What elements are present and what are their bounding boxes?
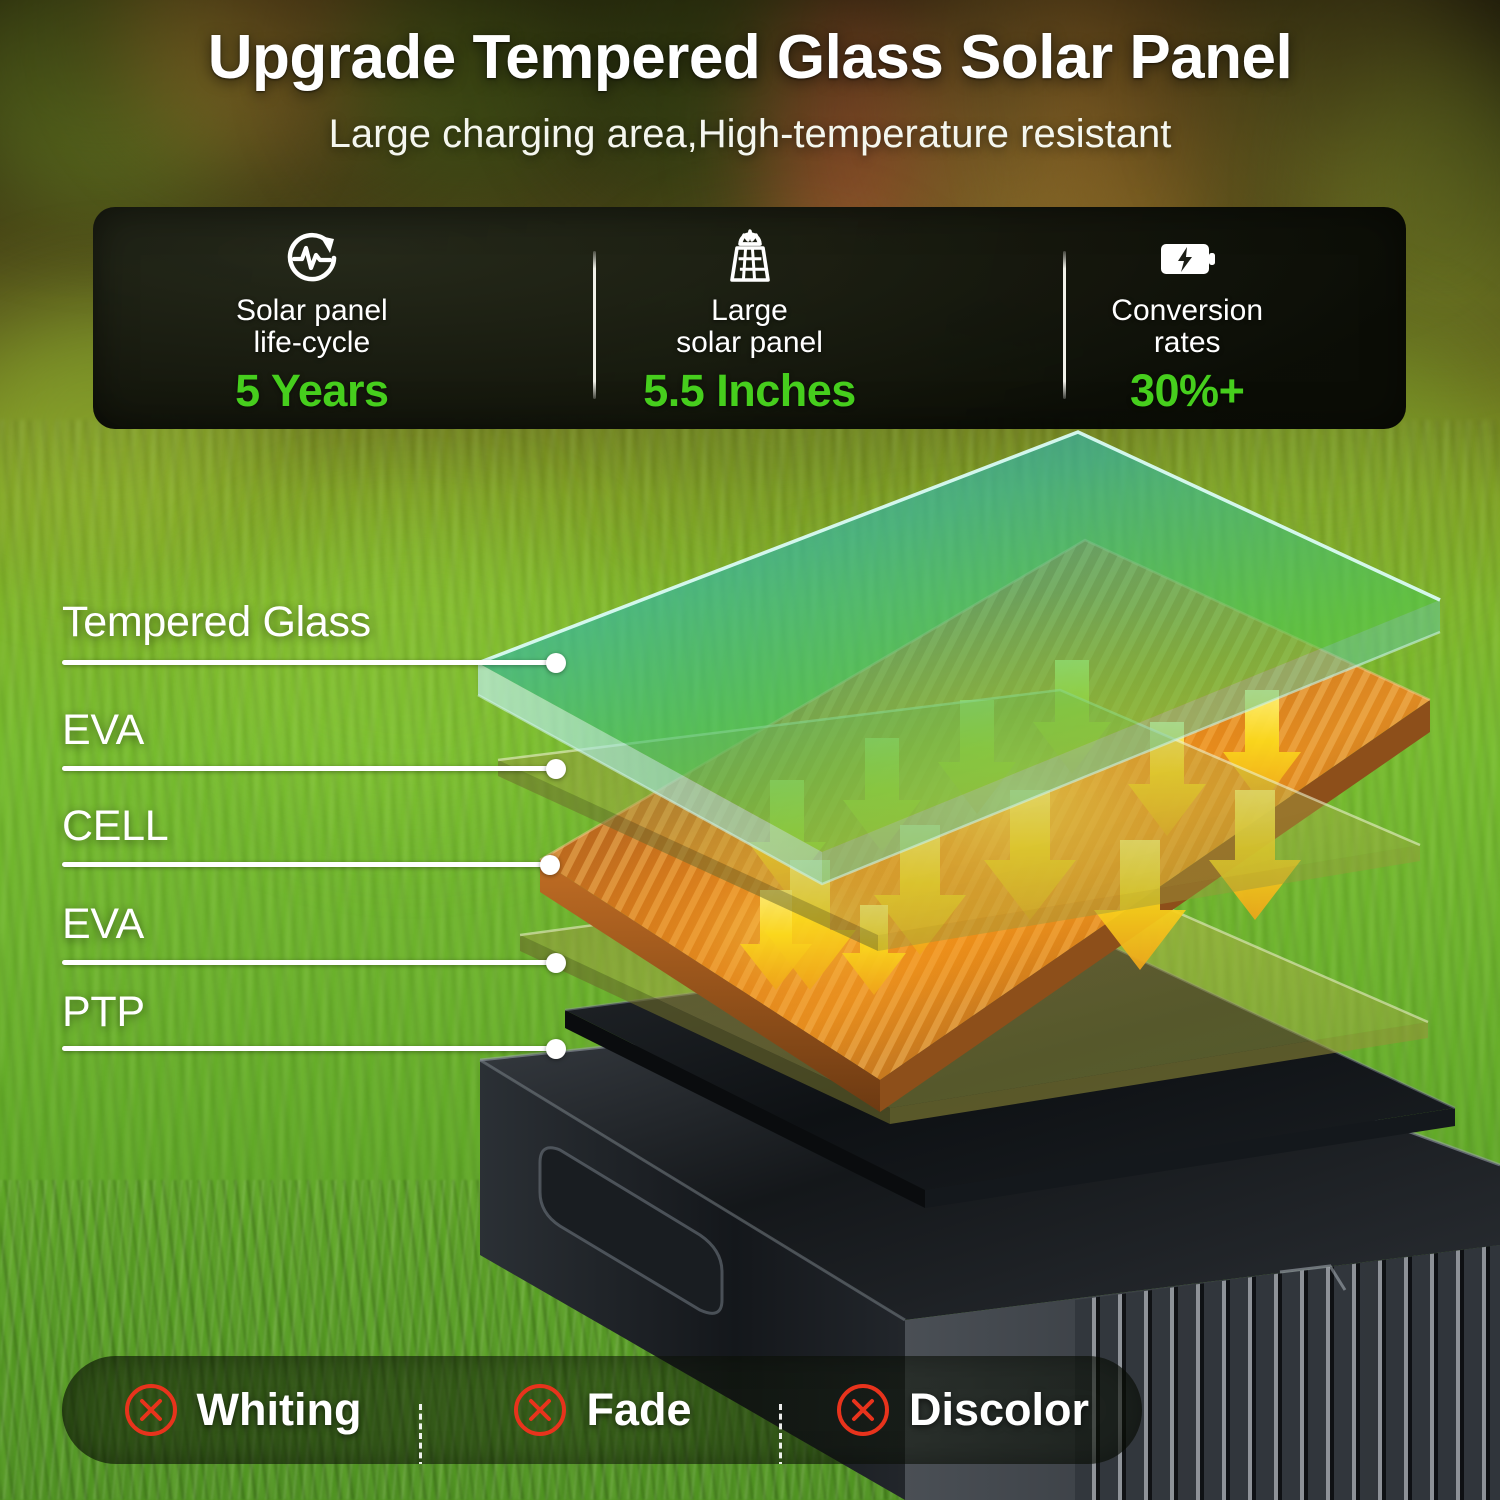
spec-value: 5 Years [235,365,388,417]
product-infographic: Upgrade Tempered Glass Solar Panel Large… [0,0,1500,1500]
claim-label: Discolor [909,1384,1089,1436]
claim-discolor: Discolor [782,1382,1142,1438]
callout-line [62,862,549,867]
callout-label: EVA [62,900,144,949]
spec-item-life-cycle: Solar panel life-cycle 5 Years [93,207,531,429]
spec-divider [1063,251,1066,399]
callout-dot [540,855,560,875]
callout-line [62,960,555,965]
claim-label: Whiting [197,1384,362,1436]
callout-dot [546,1039,566,1059]
callout-line [62,766,555,771]
circle-x-icon [835,1382,891,1438]
circle-x-icon [512,1382,568,1438]
callout-label: Tempered Glass [62,598,371,647]
spec-item-conversion: Conversion rates 30%+ [968,207,1406,429]
callout-dot [546,953,566,973]
callout-line [62,660,555,665]
claim-fade: Fade [422,1382,782,1438]
solar-panel-icon [718,225,782,291]
circle-x-icon [123,1382,179,1438]
callout-dot [546,653,566,673]
callout-dot [546,759,566,779]
life-cycle-icon [280,225,344,291]
spec-title: Conversion rates [1111,295,1263,359]
durability-claims-bar: Whiting Fade Discolor [62,1356,1142,1464]
callout-label: CELL [62,802,168,851]
claim-whiting: Whiting [62,1382,422,1438]
page-title: Upgrade Tempered Glass Solar Panel [0,22,1500,93]
page-subtitle: Large charging area,High-temperature res… [0,112,1500,157]
spec-value: 5.5 Inches [643,365,856,417]
claim-label: Fade [586,1384,691,1436]
spec-highlight-panel: Solar panel life-cycle 5 Years [93,207,1406,429]
callout-line [62,1046,555,1051]
spec-value: 30%+ [1130,365,1244,417]
spec-divider [593,251,596,399]
callout-label: PTP [62,988,145,1037]
spec-title: Solar panel life-cycle [236,295,388,359]
spec-title: Large solar panel [676,295,823,359]
battery-charge-icon [1151,225,1223,291]
callout-label: EVA [62,706,144,755]
spec-item-panel-size: Large solar panel 5.5 Inches [531,207,969,429]
